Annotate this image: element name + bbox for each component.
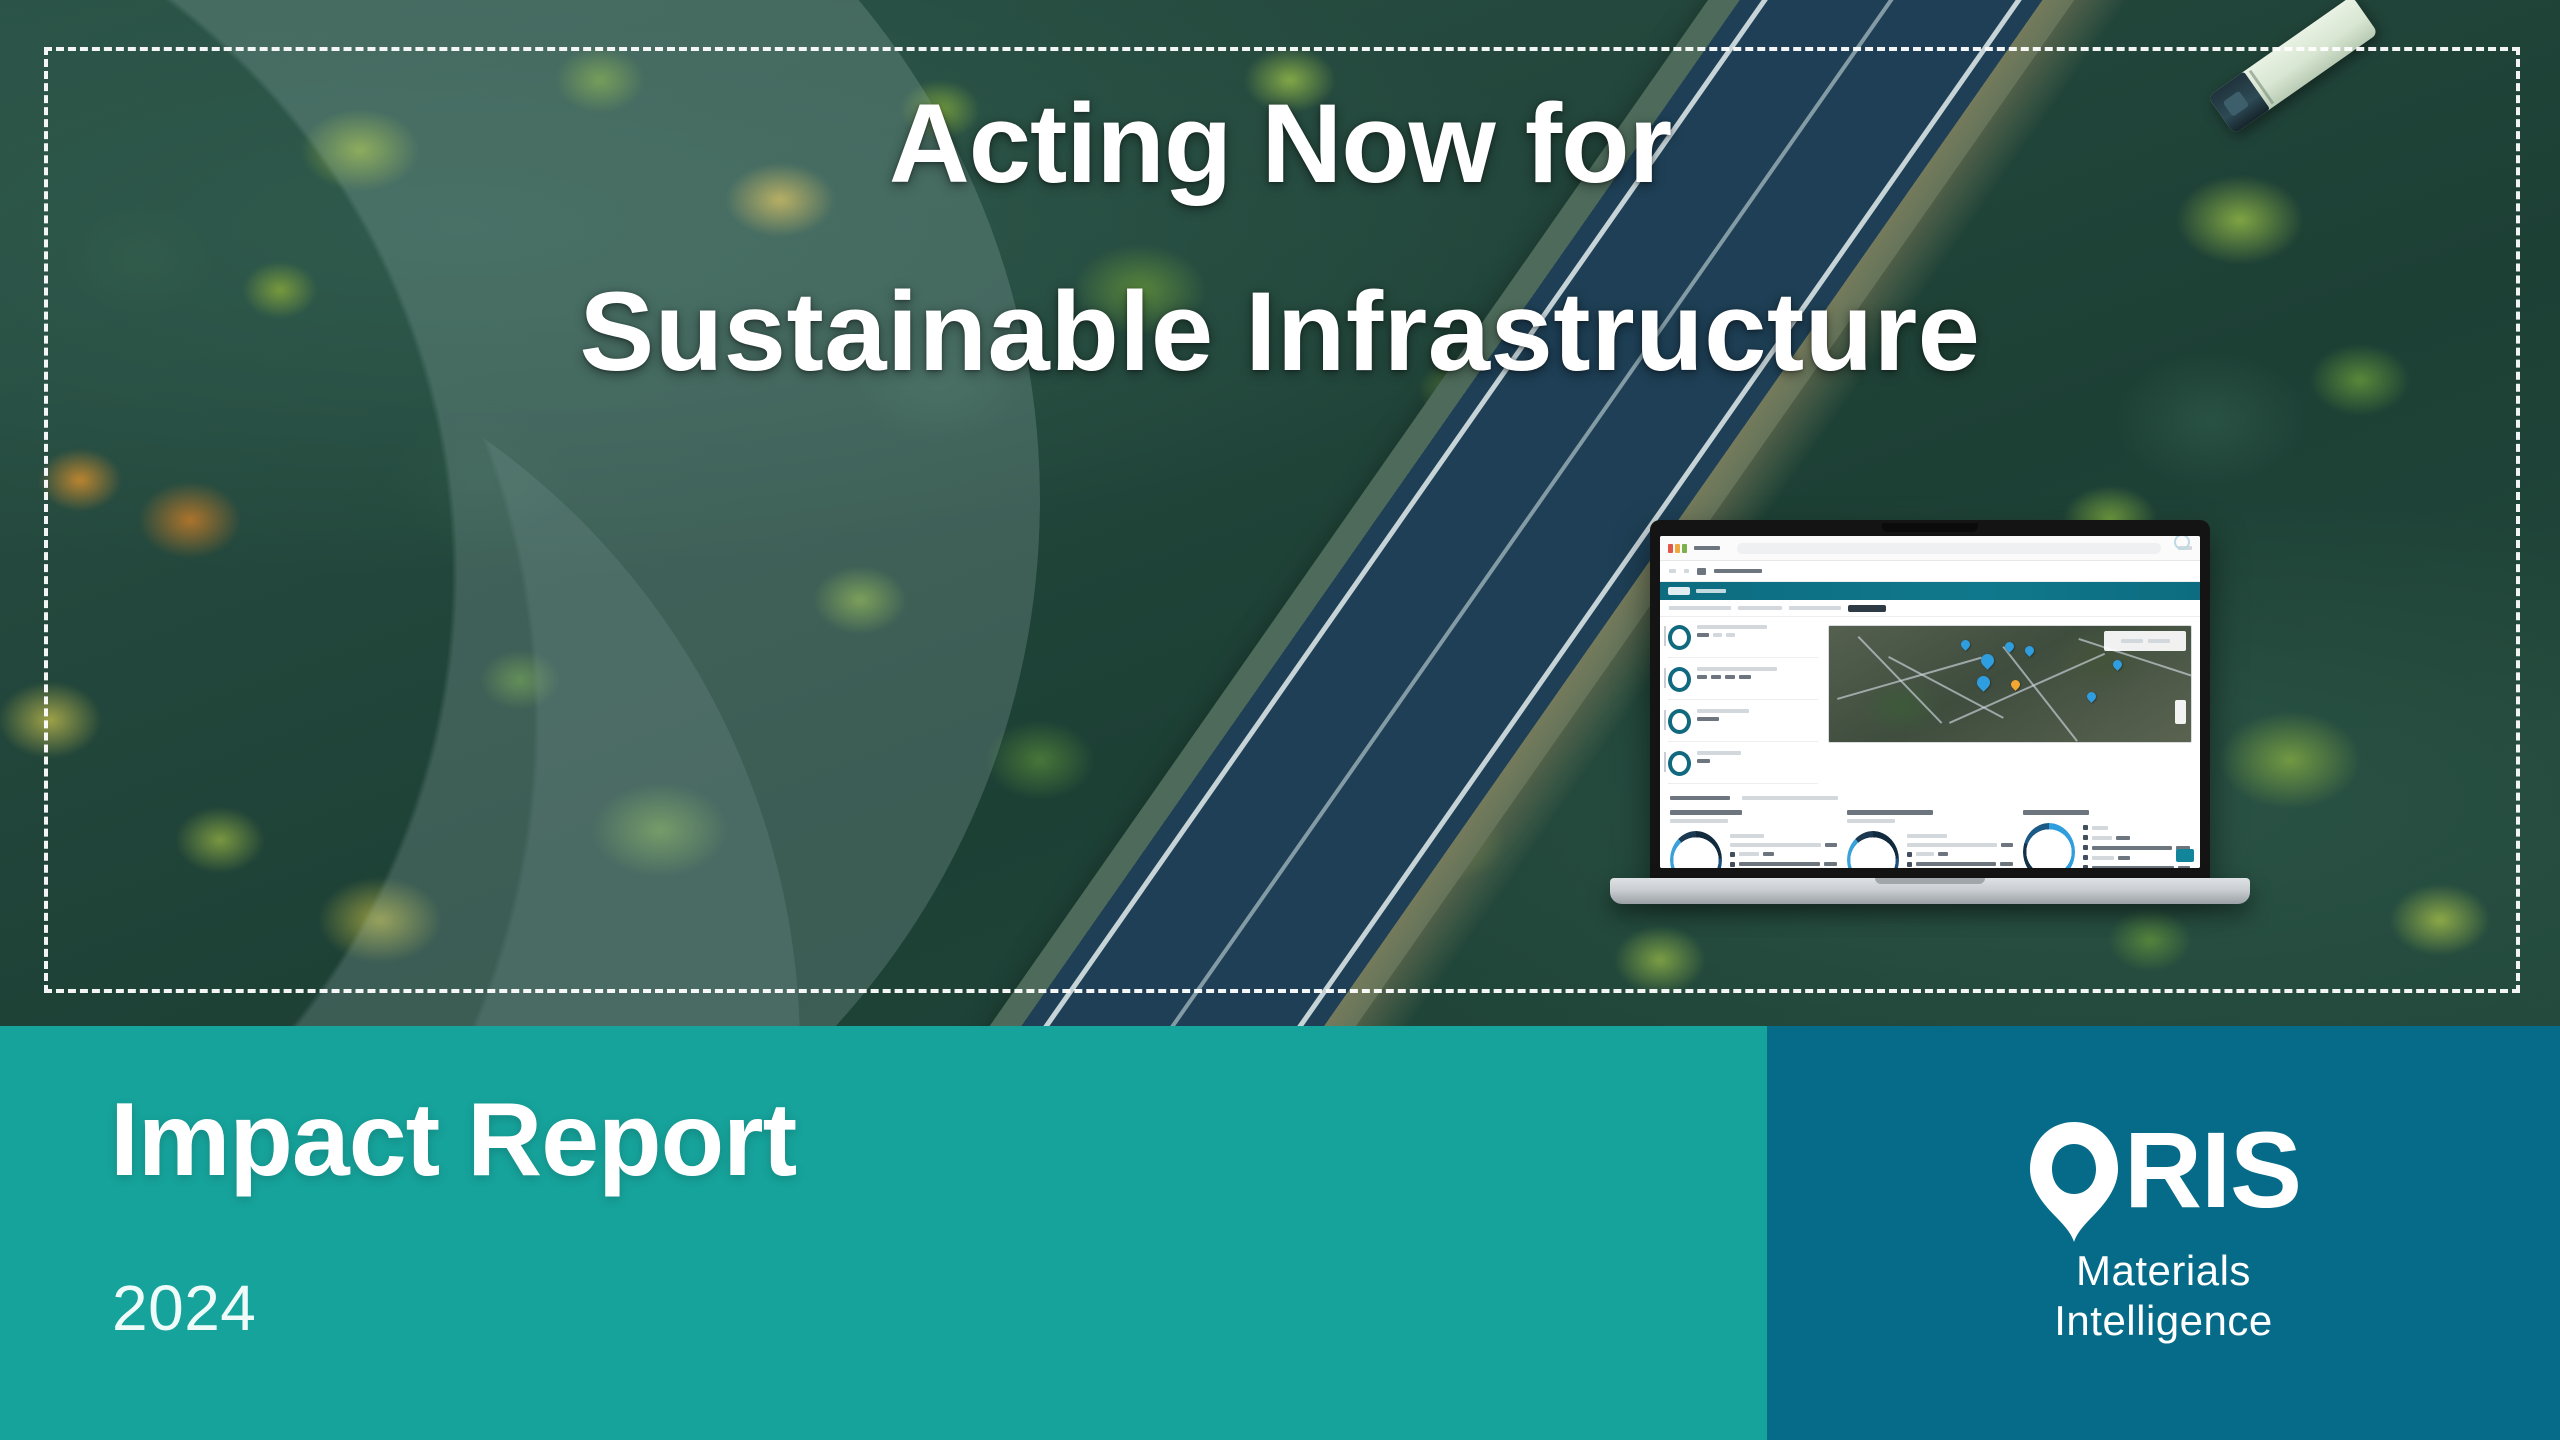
app-name-label — [1694, 546, 1720, 550]
donut-chart — [1670, 831, 1722, 868]
laptop-base — [1610, 878, 2250, 904]
ring-icon — [1668, 709, 1691, 734]
laptop-camera-notch — [1882, 523, 1978, 532]
truck-cab — [2208, 71, 2270, 134]
search-input[interactable] — [1737, 543, 2161, 554]
report-cover-slide: Acting Now for Sustainable Infrastructur… — [0, 0, 2560, 1440]
dashboard-section-bar — [1660, 792, 2200, 800]
tab-emissions[interactable] — [1789, 606, 1841, 610]
donut-chart — [1847, 831, 1899, 868]
ring-icon — [1668, 667, 1691, 692]
laptop-lid — [1650, 520, 2210, 880]
chart-card-row — [1847, 831, 2014, 868]
footer-band-left: Impact Report 2024 — [0, 1026, 1767, 1440]
laptop-base-notch — [1875, 878, 1985, 884]
dashboard-body — [1660, 617, 2200, 792]
back-arrow-icon[interactable] — [1669, 569, 1676, 573]
chart-legend — [1907, 834, 2014, 869]
map-marker-cluster[interactable] — [1978, 651, 1996, 669]
dashboard-kpi-list — [1668, 625, 1818, 784]
chart-card-row — [1670, 831, 1837, 868]
list-item[interactable] — [1668, 709, 1818, 742]
tab-selected[interactable] — [1848, 605, 1886, 612]
app-logo-icon — [1668, 544, 1687, 553]
section-label — [1670, 796, 1730, 800]
list-item-lines — [1697, 625, 1818, 637]
chart-card-head — [2023, 810, 2190, 815]
truck-vehicle — [2208, 0, 2379, 134]
chat-support-button[interactable] — [2176, 849, 2194, 862]
laptop-mockup — [1610, 520, 2250, 920]
oris-tagline: Materials Intelligence — [1944, 1246, 2384, 1346]
tab-overview[interactable] — [1669, 606, 1731, 610]
dashboard-tabs — [1660, 600, 2200, 617]
oris-tagline-line-2: Intelligence — [1944, 1296, 2384, 1346]
hero-photo-area: Acting Now for Sustainable Infrastructur… — [0, 0, 2560, 1026]
map-marker[interactable] — [2111, 658, 2124, 671]
chart-legend — [2083, 825, 2190, 868]
oris-wordmark: RIS — [1944, 1120, 2384, 1232]
dashboard-chart-cards — [1660, 800, 2200, 868]
ring-icon — [1668, 751, 1691, 776]
map-pin-o-icon — [2026, 1120, 2122, 1244]
chart-card — [1847, 810, 2014, 868]
footer-band-right: RIS Materials Intelligence — [1767, 1026, 2560, 1440]
breadcrumb — [1660, 561, 2200, 582]
footer-band: Impact Report 2024 RIS Materials Intelli… — [0, 1026, 2560, 1440]
map-zoom-control[interactable] — [2175, 700, 2186, 724]
folder-icon — [1697, 568, 1706, 575]
list-item-lines — [1697, 751, 1818, 763]
dashboard-topbar — [1660, 536, 2200, 561]
oris-letters: RIS — [2124, 1120, 2301, 1218]
list-item-lines — [1697, 709, 1818, 721]
map-road-line — [1949, 653, 2105, 724]
page-title: Impact Report — [110, 1088, 796, 1192]
truck-windshield — [2223, 91, 2250, 117]
chart-card — [1670, 810, 1837, 868]
laptop-screen — [1660, 536, 2200, 868]
project-map[interactable] — [1828, 625, 2192, 743]
map-marker[interactable] — [2085, 690, 2098, 703]
dashboard-nav-band — [1660, 582, 2200, 600]
chart-card-head — [1670, 810, 1837, 823]
oris-logo: RIS Materials Intelligence — [1944, 1120, 2384, 1346]
oris-tagline-line-1: Materials — [1944, 1246, 2384, 1296]
list-item[interactable] — [1668, 751, 1818, 784]
list-item[interactable] — [1668, 625, 1818, 658]
chart-card-row — [2023, 823, 2190, 868]
nav-title-label — [1696, 589, 1726, 593]
breadcrumb-current-label — [1714, 569, 1762, 573]
breadcrumb-separator — [1684, 569, 1689, 573]
nav-brand-chip — [1668, 587, 1690, 595]
map-marker[interactable] — [2023, 644, 2036, 657]
chart-card-head — [1847, 810, 2014, 823]
list-item-lines — [1697, 667, 1818, 679]
tab-materials[interactable] — [1738, 606, 1782, 610]
ring-icon — [1668, 625, 1691, 650]
section-sublabel — [1742, 796, 1838, 800]
report-year: 2024 — [112, 1276, 256, 1340]
donut-chart — [2023, 823, 2075, 868]
map-filter-card[interactable] — [2104, 631, 2186, 651]
map-marker-selected[interactable] — [2009, 678, 2022, 691]
chart-card — [2023, 810, 2190, 868]
list-item[interactable] — [1668, 667, 1818, 700]
chart-legend — [1730, 834, 1837, 869]
map-marker-cluster[interactable] — [1974, 673, 1992, 691]
map-marker[interactable] — [1959, 638, 1972, 651]
